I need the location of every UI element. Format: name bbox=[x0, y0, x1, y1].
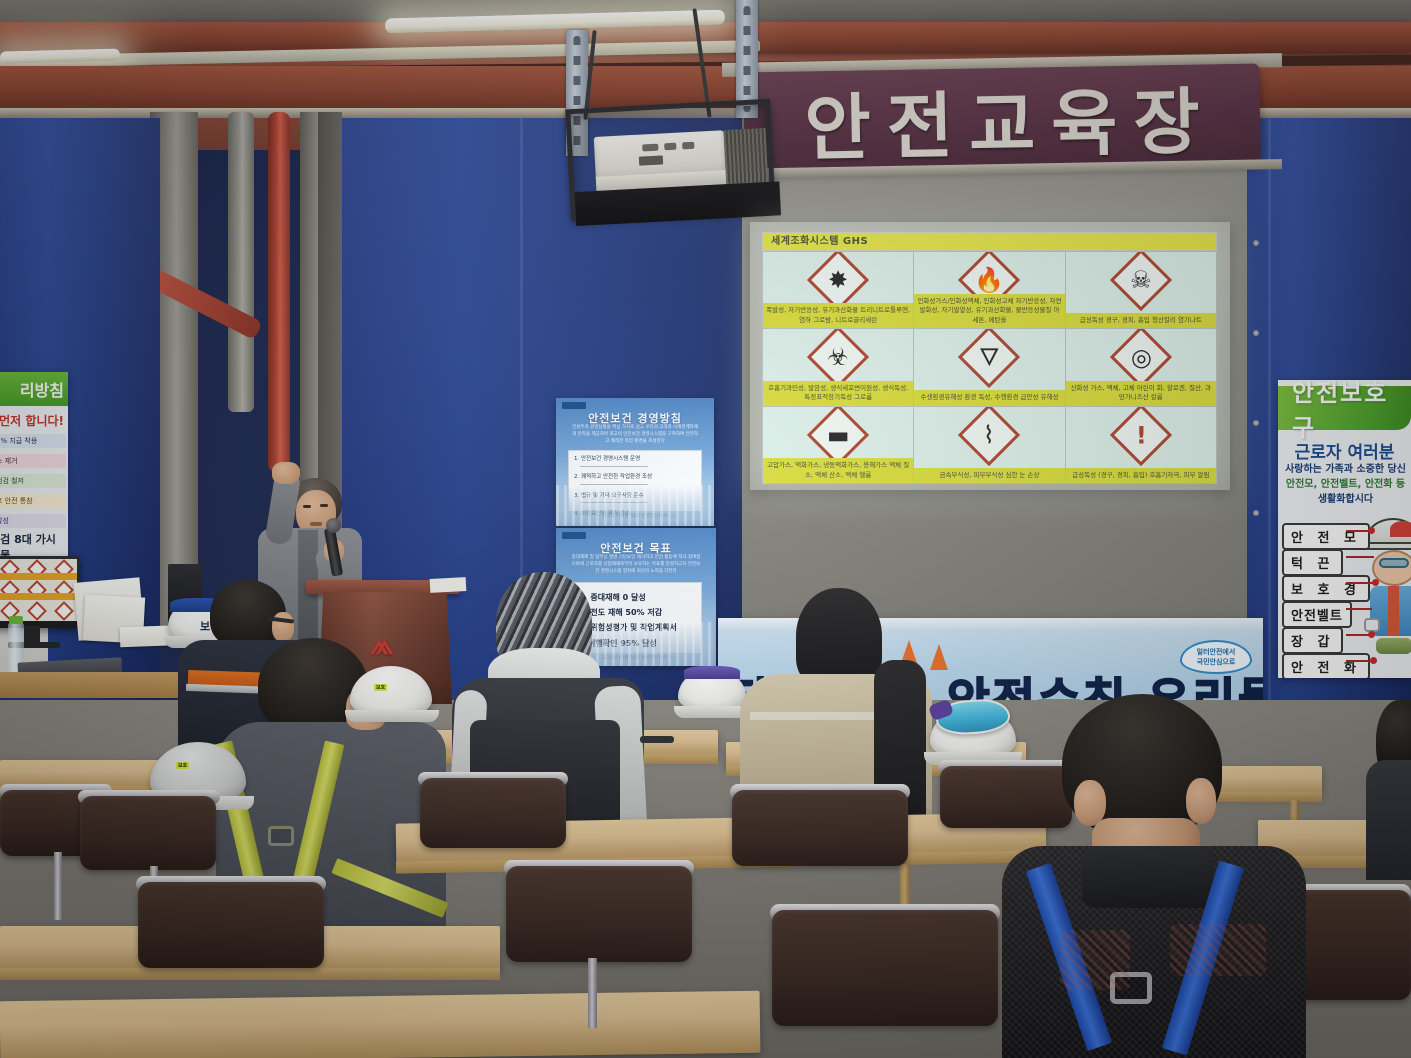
ppe-leader-4 bbox=[1346, 634, 1370, 636]
goal-item-2: 3. 위험성평가 및 작업계획서 bbox=[579, 620, 693, 635]
tarp-grommet-2 bbox=[1253, 330, 1259, 336]
ghs-cell-corrosion: ⌇ 금속부식성, 피부부식성 심한 눈 손상 bbox=[914, 407, 1065, 484]
projector-connector bbox=[639, 155, 663, 165]
monitor-band-3 bbox=[0, 593, 24, 600]
chair-8-back bbox=[772, 910, 998, 1026]
environment-hazard-icon: 🜄 bbox=[958, 329, 1020, 388]
exploding-bomb-icon: ✸ bbox=[807, 252, 869, 311]
ppe-leader-3 bbox=[1346, 608, 1372, 610]
ppe-poster-line-0: 사랑하는 가족과 소중한 당신 bbox=[1280, 462, 1411, 478]
ppe-poster-line-1: 안전모, 안전벨트, 안전화 등 bbox=[1280, 477, 1411, 493]
wall-sign-safety-training-center: 안전교육장 bbox=[743, 64, 1261, 173]
poster-left-row-3: 호 안전 통참 bbox=[0, 494, 66, 508]
helmet-table-1-label: 보호 bbox=[374, 684, 387, 691]
chair-6-back bbox=[732, 790, 908, 866]
ghs-label-acute-toxicity: 급성독성 경구, 경피, 흡입 청산칼리 염기나트 bbox=[1066, 313, 1216, 328]
ppe-tag-harness: 안전벨트 bbox=[1282, 601, 1352, 628]
wall-sign-text: 안전교육장 bbox=[788, 64, 1217, 173]
poster-left-footer: 점검 8대 가시설물 bbox=[0, 536, 68, 558]
monitor-band-2 bbox=[50, 573, 77, 580]
health-hazard-icon: ☣ bbox=[807, 329, 869, 388]
ghs-cell-acute-toxicity: ☠ 급성독성 경구, 경피, 흡입 청산칼리 염기나트 bbox=[1066, 252, 1217, 329]
mascot-helmet-red bbox=[1390, 521, 1411, 537]
chair-2-back bbox=[80, 796, 216, 870]
mascot-goggles-icon bbox=[1379, 558, 1409, 568]
grey-pipe bbox=[228, 112, 254, 412]
poster-safety-policy: 안전보건 경영방침 건설주의 경영상황을 핵심 가치로 삼고 우리의 고객과 이… bbox=[556, 398, 714, 526]
chair-5-leg bbox=[588, 958, 597, 1028]
poster-left-policy: 리방침 먼저 합니다! 0% 지급 착용 소 제거 점검 철저 호 안전 통참 … bbox=[0, 372, 68, 562]
monitor-cell-8 bbox=[50, 600, 77, 621]
monitor-band-0 bbox=[0, 573, 24, 580]
ghs-label-irritant: 급성독성 (경구, 경피, 흡입) 호흡기자극, 피부 알림 bbox=[1066, 468, 1216, 483]
projector-port-usb bbox=[682, 142, 694, 150]
policy-item-3: 4. 위험요인의 제거·감소 bbox=[574, 510, 696, 519]
ppe-leader-1 bbox=[1346, 556, 1374, 558]
mascot-glove bbox=[1364, 618, 1380, 632]
goal-item-0: 1. 중대재해 0 달성 bbox=[579, 590, 693, 605]
ppe-tag-helmet: 안 전 모 bbox=[1282, 523, 1370, 550]
poster-ppe: 안전보호구 근로자 여러분 사랑하는 가족과 소중한 당신 안전모, 안전벨트,… bbox=[1278, 380, 1411, 678]
podium-paper bbox=[430, 577, 467, 593]
tarp-grommet-4 bbox=[1253, 510, 1259, 516]
chair-1-leg bbox=[54, 852, 62, 920]
ghs-label-oxidizer: 산화성 가스, 액체, 고체 어린이 화, 할로겐, 질산, 과망가니즈산 칼륨 bbox=[1066, 381, 1216, 406]
corrosion-icon: ⌇ bbox=[958, 407, 1020, 466]
policy-poster-intro: 건설주의 경영상황을 핵심 가치로 삼고 우리의 고객과 이해관계자에게 만족을… bbox=[570, 425, 700, 445]
policy-item-2: 3. 법규 및 기타 요구사항 준수 bbox=[574, 492, 696, 501]
ghs-label-gas-cylinder: 고압가스, 액화가스, 냉동액화가스, 용해가스 액체 질소, 액체 산소, 액… bbox=[763, 458, 913, 483]
attendee-5-ear-right bbox=[1186, 778, 1216, 824]
poster-left-row-4: 달성 bbox=[0, 514, 66, 528]
ppe-poster-line-2: 생활화합시다 bbox=[1280, 492, 1411, 508]
ghs-cell-oxidizer: ◎ 산화성 가스, 액체, 고체 어린이 화, 할로겐, 질산, 과망가니즈산 … bbox=[1066, 329, 1217, 406]
monitor-cell-4 bbox=[24, 580, 51, 601]
chair-4-back bbox=[420, 778, 566, 848]
attendee-2-harness-dring bbox=[268, 826, 294, 846]
attendee-4-balaclava bbox=[796, 588, 882, 688]
mascot-harness bbox=[1388, 586, 1399, 636]
monitor-cell-0 bbox=[0, 559, 24, 580]
microphone-head bbox=[326, 518, 341, 533]
ghs-cell-explosive: ✸ 폭발성, 자기반응성, 유기과산화물 트리니트로톨루엔, 염하 그로밤, 니… bbox=[763, 252, 914, 329]
podium-logo-icon: ⩕ bbox=[370, 630, 394, 660]
ghs-label-corrosion: 금속부식성, 피부부식성 심한 눈 손상 bbox=[914, 468, 1064, 483]
projector-cage bbox=[565, 99, 776, 222]
helmet-desk-label: 보 bbox=[200, 618, 210, 634]
monitor-cell-3 bbox=[0, 580, 24, 601]
ppe-tag-boots: 안 전 화 bbox=[1282, 653, 1370, 678]
slide-title: 세계조화시스템 GHS bbox=[762, 232, 1217, 251]
instructor-eye-left bbox=[303, 505, 311, 508]
oxidizer-flame-over-circle-icon: ◎ bbox=[1110, 329, 1172, 388]
remote-control bbox=[640, 736, 674, 743]
attendee-6-vest-partial bbox=[1366, 760, 1411, 880]
ghs-cell-irritant: ! 급성독성 (경구, 경피, 흡입) 호흡기자극, 피부 알림 bbox=[1066, 407, 1217, 484]
ghs-label-health-hazard: 호흡기과민성, 발암성, 생식세포변이원성, 생식독성, 특정표적장기독성 그로… bbox=[763, 381, 913, 406]
attendee-5-vest-print-left bbox=[1060, 930, 1130, 990]
poster-left-header: 리방침 bbox=[0, 372, 68, 406]
poster-left-row-0: 0% 지급 착용 bbox=[0, 434, 66, 448]
projector-body bbox=[594, 130, 727, 191]
ppe-tag-chinstrap: 턱 끈 bbox=[1282, 549, 1343, 576]
exclamation-mark-icon: ! bbox=[1110, 407, 1172, 466]
monitor-pictogram-7 bbox=[27, 601, 47, 621]
goals-poster-intro: 중대재해 및 업무상 질병 기인요인 제거하고 안전 활동에 적극 참여함으로써… bbox=[570, 555, 702, 575]
poster-left-row-1: 소 제거 bbox=[0, 454, 66, 468]
bottle-cap bbox=[9, 616, 23, 624]
ppe-dot-5 bbox=[1370, 657, 1377, 664]
ppe-leader-2 bbox=[1346, 582, 1374, 584]
monitor-band-1 bbox=[24, 573, 51, 580]
ppe-leader-5 bbox=[1346, 660, 1372, 662]
table-foreground-left-edge bbox=[0, 968, 500, 980]
monitor-screen bbox=[0, 559, 77, 621]
training-room-scene: 안전교육장 세계조화시스템 GHS ✸ 폭발성, 자기반응성, 유기과산화물 트… bbox=[0, 0, 1411, 1058]
instructor-raised-hand bbox=[272, 462, 300, 484]
chair-3-back bbox=[138, 882, 324, 968]
gas-cylinder-icon: ▬ bbox=[807, 407, 869, 466]
table-foreground-bottom bbox=[0, 991, 760, 1058]
goals-poster-signature: 2025년 01월 02일 경영책임자 이 ○ ○ bbox=[580, 656, 700, 663]
goal-item-1: 2. 전도 재해 50% 저감 bbox=[579, 605, 693, 620]
tarp-grommet-3 bbox=[1253, 420, 1259, 426]
ghs-label-explosive: 폭발성, 자기반응성, 유기과산화물 트리니트로톨루엔, 염하 그로밤, 니트로… bbox=[763, 303, 913, 328]
ppe-tag-goggles: 보 호 경 bbox=[1282, 575, 1370, 602]
goals-poster-title: 안전보건 목표 bbox=[556, 540, 716, 556]
chair-7-back bbox=[940, 766, 1072, 828]
ppe-dot-0 bbox=[1368, 527, 1375, 534]
mascot-helmet-brim bbox=[1364, 542, 1411, 550]
projector-port-vga bbox=[642, 144, 658, 152]
monitor-cell-7 bbox=[24, 600, 51, 621]
attendee-5-vest-print-right bbox=[1170, 924, 1266, 976]
ppe-dot-4 bbox=[1368, 631, 1375, 638]
instructor-mouth bbox=[310, 522, 322, 526]
helmet-table-3-band bbox=[684, 666, 740, 679]
ppe-leader-0 bbox=[1346, 530, 1370, 532]
ppe-tag-gloves: 장 갑 bbox=[1282, 627, 1343, 654]
monitor-band-5 bbox=[50, 593, 77, 600]
monitor-cell-2 bbox=[50, 559, 77, 580]
policy-poster-signature: 2025년 01월 02일 경영책임자 이 ○ ○ bbox=[580, 514, 700, 521]
helmet-table-1-brim bbox=[345, 710, 439, 722]
projector-vent bbox=[724, 128, 769, 188]
red-standpipe bbox=[268, 112, 290, 472]
projector-port-hdmi bbox=[664, 143, 676, 151]
goal-item-3: 이행확인 95% 달성 bbox=[579, 636, 693, 651]
monitor-pictogram-8 bbox=[54, 601, 74, 621]
ghs-cell-flammable: 🔥 인화성가스/인화성액체, 인화성고체 자기반응성, 자연발화성, 자기발열성… bbox=[914, 252, 1065, 329]
monitor-band-4 bbox=[24, 593, 51, 600]
goals-poster-logo bbox=[562, 532, 586, 539]
helmet-table-2-label: 보호 bbox=[176, 762, 189, 769]
ppe-poster-header: 안전보호구 bbox=[1278, 386, 1411, 430]
monitor-cell-1 bbox=[24, 559, 51, 580]
tarp-grommet-1 bbox=[1253, 240, 1259, 246]
policy-poster-title: 안전보건 경영방침 bbox=[556, 410, 714, 426]
projected-slide-ghs: 세계조화시스템 GHS ✸ 폭발성, 자기반응성, 유기과산화물 트리니트로톨루… bbox=[762, 232, 1217, 484]
ppe-poster-headline: 근로자 여러분 bbox=[1278, 438, 1411, 463]
ghs-label-environment: 수생환경유해성 환경 독성, 수행환경 급만성 유해성 bbox=[914, 390, 1064, 405]
ppe-dot-2 bbox=[1372, 579, 1379, 586]
ghs-cell-health-hazard: ☣ 호흡기과민성, 발암성, 생식세포변이원성, 생식독성, 특정표적장기독성 … bbox=[763, 329, 914, 406]
skull-crossbones-icon: ☠ bbox=[1110, 252, 1172, 311]
attendee-5-collar bbox=[1082, 846, 1214, 908]
instructor-eye-right bbox=[320, 504, 328, 507]
policy-poster-card: 1. 안전보건 경영시스템 운영 ───────────────────────… bbox=[568, 450, 702, 512]
policy-poster-logo bbox=[562, 402, 586, 409]
ghs-pictogram-grid: ✸ 폭발성, 자기반응성, 유기과산화물 트리니트로톨루엔, 염하 그로밤, 니… bbox=[762, 251, 1217, 484]
ghs-cell-environment: 🜄 수생환경유해성 환경 독성, 수행환경 급만성 유해성 bbox=[914, 329, 1065, 406]
mascot-boot bbox=[1376, 638, 1411, 654]
policy-item-1: 2. 쾌적하고 안전한 작업환경 조성 bbox=[574, 473, 696, 482]
poster-left-row-2: 점검 철저 bbox=[0, 474, 66, 488]
ghs-cell-gas-cylinder: ▬ 고압가스, 액화가스, 냉동액화가스, 용해가스 액체 질소, 액체 산소,… bbox=[763, 407, 914, 484]
policy-item-0: 1. 안전보건 경영시스템 운영 bbox=[574, 455, 696, 464]
chair-5-back bbox=[506, 866, 692, 962]
poster-left-headline: 먼저 합니다! bbox=[0, 410, 68, 430]
ghs-label-flammable: 인화성가스/인화성액체, 인화성고체 자기반응성, 자연발화성, 자기발열성, … bbox=[914, 294, 1064, 328]
